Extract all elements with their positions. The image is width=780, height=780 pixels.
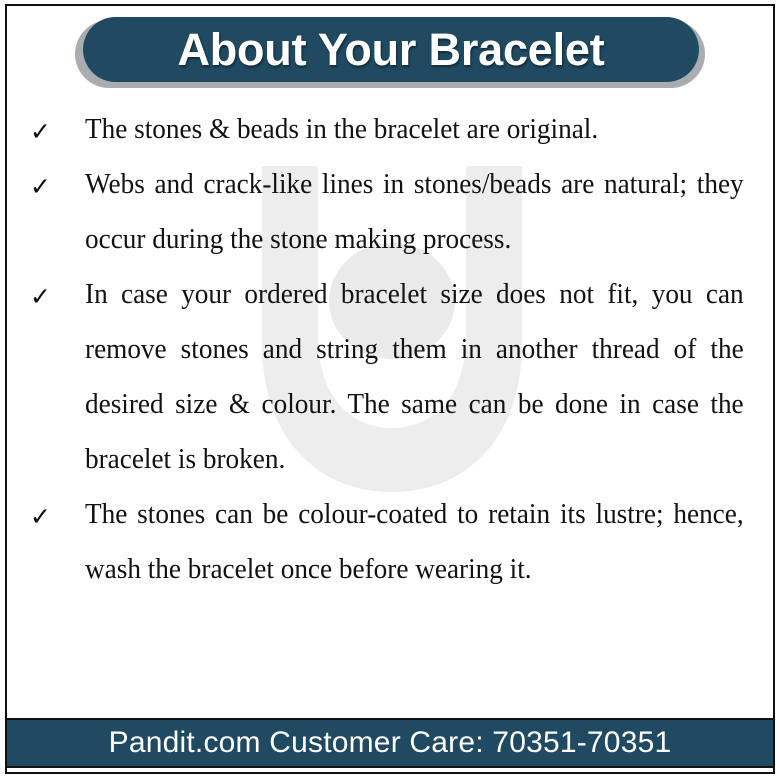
customer-care-footer: Pandit.com Customer Care: 70351-70351 <box>7 718 773 768</box>
list-item-text: In case your ordered bracelet size does … <box>85 267 744 487</box>
list-item: ✓ The stones & beads in the bracelet are… <box>7 102 758 157</box>
about-your-bracelet-card: About Your Bracelet ✓ The stones & beads… <box>5 4 775 774</box>
check-mark-icon: ✓ <box>30 104 60 159</box>
check-mark-icon: ✓ <box>30 269 60 324</box>
check-mark-icon: ✓ <box>30 159 60 214</box>
check-mark-icon: ✓ <box>30 489 60 544</box>
list-item-text: The stones can be colour-coated to retai… <box>85 487 744 597</box>
header-pill: About Your Bracelet <box>83 17 699 82</box>
list-item: ✓ In case your ordered bracelet size doe… <box>7 267 758 487</box>
customer-care-text: Pandit.com Customer Care: 70351-70351 <box>109 728 672 758</box>
list-item: ✓ Webs and crack-like lines in stones/be… <box>7 157 758 267</box>
list-item-text: The stones & beads in the bracelet are o… <box>85 102 744 157</box>
header: About Your Bracelet <box>7 6 773 98</box>
list-item: ✓ The stones can be colour-coated to ret… <box>7 487 758 597</box>
page-title: About Your Bracelet <box>177 27 604 72</box>
bracelet-info-list: ✓ The stones & beads in the bracelet are… <box>7 102 773 597</box>
list-item-text: Webs and crack-like lines in stones/bead… <box>85 157 744 267</box>
